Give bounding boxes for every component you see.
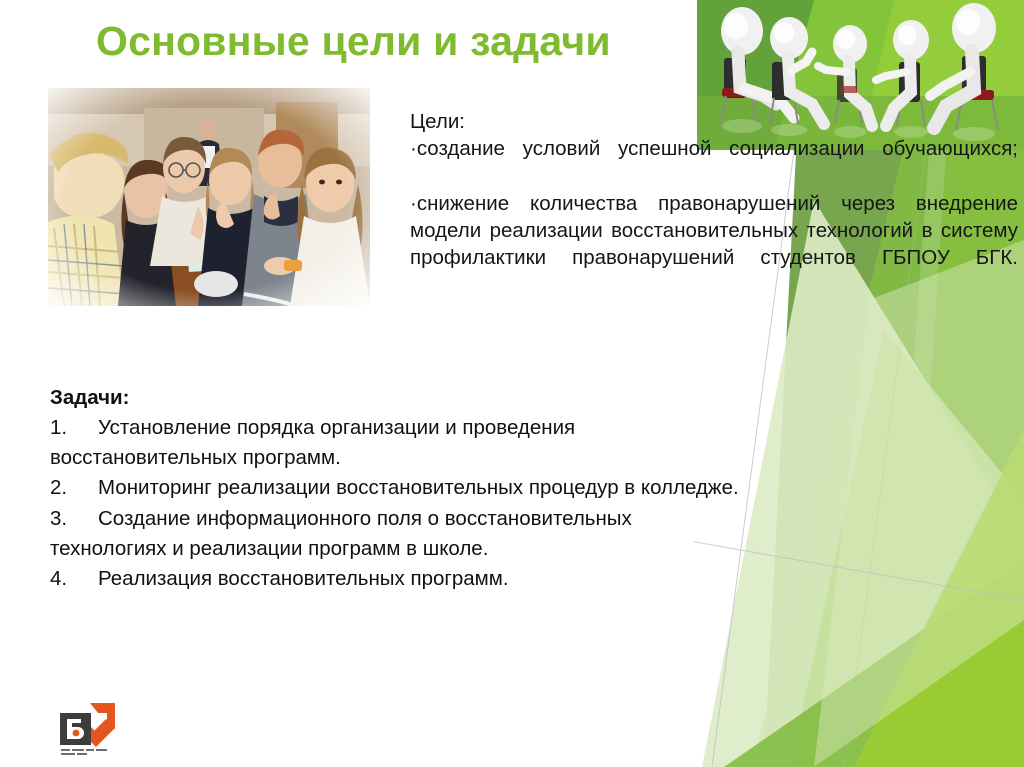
bgk-college-logo [57,699,123,757]
task-number-1: 1. [50,413,98,443]
slide: Основные цели и задачи [0,0,1024,767]
task-text-2: Мониторинг реализации восстановительных … [98,476,739,499]
tasks-block: Задачи: 1.Установление порядка организац… [50,383,750,594]
task-number-3: 3. [50,504,98,534]
goals-item-2: ·снижение количества правонарушений чере… [410,190,1018,299]
task-text-3: Создание информационного поля о восстано… [50,507,632,560]
task-number-2: 2. [50,473,98,503]
task-item-2: 2.Мониторинг реализации восстановительны… [50,473,750,503]
students-discussion-photo [48,88,370,306]
goals-heading: Цели: [410,108,1018,135]
task-number-4: 4. [50,564,98,594]
task-item-3: 3.Создание информационного поля о восста… [50,504,750,564]
task-text-4: Реализация восстановительных программ. [98,567,509,590]
goals-block: Цели: ·создание условий успешной социали… [410,108,1018,299]
tasks-heading: Задачи: [50,383,750,413]
task-item-1: 1.Установление порядка организации и про… [50,413,750,473]
page-title: Основные цели и задачи [96,18,611,65]
goals-item-1: ·создание условий успешной социализации … [410,135,1018,190]
task-item-4: 4.Реализация восстановительных программ. [50,564,750,594]
task-text-1: Установление порядка организации и прове… [50,416,575,469]
